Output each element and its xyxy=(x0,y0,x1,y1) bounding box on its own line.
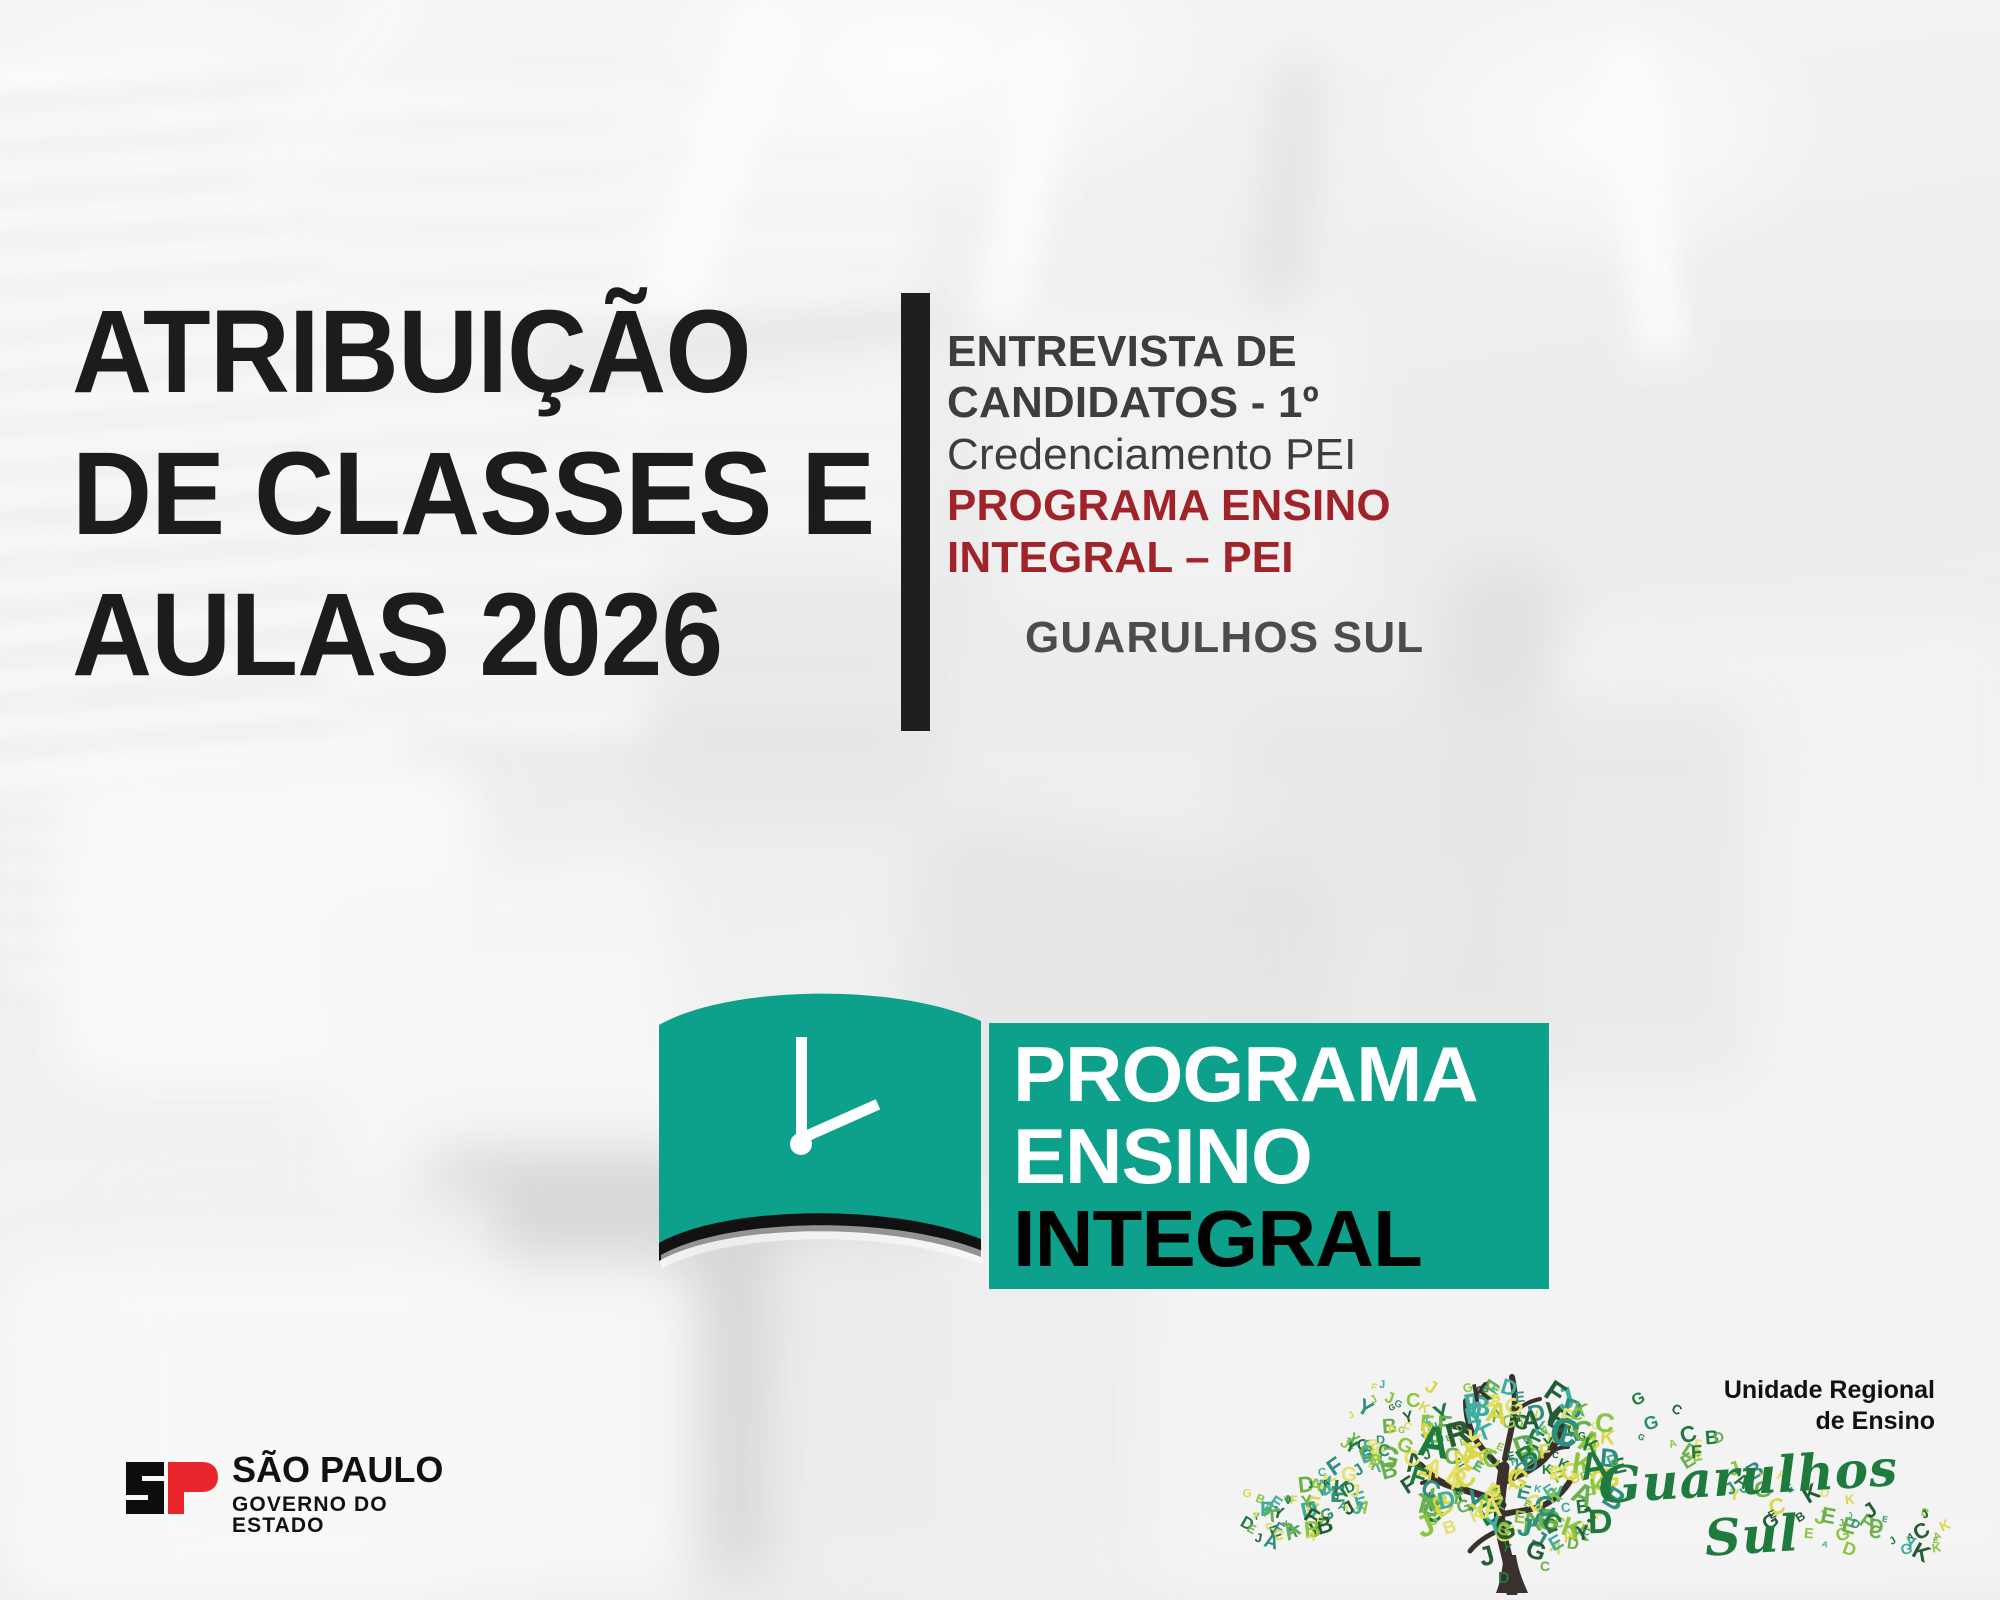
poster-canvas: ATRIBUIÇÃO DE CLASSES E AULAS 2026 ENTRE… xyxy=(0,0,2000,1600)
region-label: GUARULHOS SUL xyxy=(1025,613,1587,663)
gs-wordmark: Unidade Regional de Ensino xyxy=(1635,1375,1935,1436)
tree-letter: A xyxy=(1521,1407,1540,1434)
subtitle-line-4: PROGRAMA ENSINO xyxy=(947,480,1587,531)
gs-line-1: Unidade Regional xyxy=(1635,1375,1935,1406)
pei-word-programa: PROGRAMA xyxy=(1013,1029,1478,1120)
gs-script-label: Guarulhos Sul xyxy=(1567,1436,1934,1576)
subtitle-block: ENTREVISTA DE CANDIDATOS - 1º Credenciam… xyxy=(947,326,1587,663)
gs-line-2: de Ensino xyxy=(1635,1406,1935,1437)
guarulhos-sul-logo: D C YCYDGCBEGDGYBACYDKEYBGDAKKKBGCDBKEBA… xyxy=(1250,1355,1950,1595)
headline-line-2: DE CLASSES E xyxy=(72,424,852,566)
sp-title: SÃO PAULO xyxy=(232,1452,462,1488)
tree-letter: C xyxy=(1594,1409,1617,1438)
tree-letter: B xyxy=(1369,1453,1381,1469)
headline-line-3: AULAS 2026 xyxy=(72,565,852,707)
sao-paulo-logo: SÃO PAULO GOVERNO DO ESTADO xyxy=(124,1452,424,1524)
sp-monogram-icon xyxy=(124,1456,220,1518)
tree-letter: A xyxy=(1507,1479,1518,1493)
tree-letter: J xyxy=(1379,1379,1385,1390)
headline-line-1: ATRIBUIÇÃO xyxy=(72,282,852,424)
pei-logo: PROGRAMA ENSINO INTEGRAL xyxy=(655,981,1555,1301)
book-clock-icon xyxy=(655,981,985,1286)
svg-text:D: D xyxy=(1498,1570,1510,1587)
subtitle-line-5: INTEGRAL – PEI xyxy=(947,532,1587,583)
sp-subtitle: GOVERNO DO ESTADO xyxy=(232,1494,462,1536)
subtitle-line-3: Credenciamento PEI xyxy=(947,429,1587,480)
sao-paulo-wordmark: SÃO PAULO GOVERNO DO ESTADO xyxy=(232,1452,462,1536)
tree-letter: F xyxy=(1260,1500,1273,1521)
poster-headline: ATRIBUIÇÃO DE CLASSES E AULAS 2026 xyxy=(72,282,852,707)
pei-word-ensino: ENSINO xyxy=(1013,1111,1312,1202)
pei-wordmark: PROGRAMA ENSINO INTEGRAL xyxy=(989,1023,1549,1289)
vertical-divider xyxy=(901,293,930,731)
subtitle-line-2: CANDIDATOS - 1º xyxy=(947,377,1587,428)
tree-letter: D xyxy=(1523,1453,1539,1474)
subtitle-line-1: ENTREVISTA DE xyxy=(947,326,1587,377)
pei-word-integral: INTEGRAL xyxy=(1013,1193,1422,1285)
tree-letter: E xyxy=(1515,1389,1526,1405)
tree-letter: K xyxy=(1542,1463,1552,1476)
